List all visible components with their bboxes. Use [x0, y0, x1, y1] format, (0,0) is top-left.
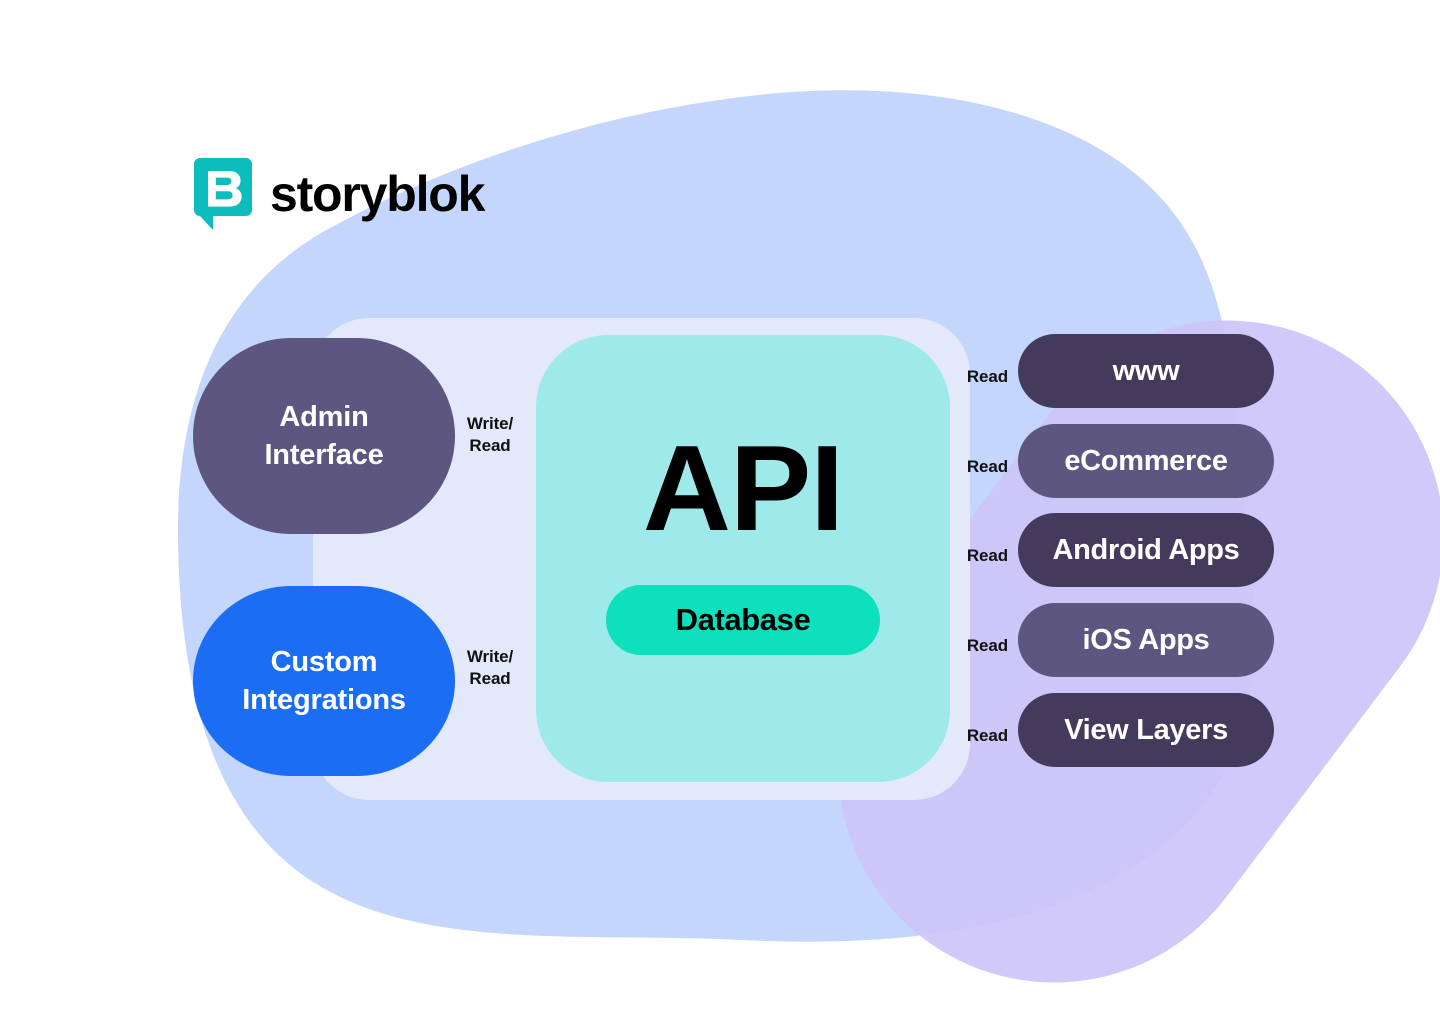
node-ios-apps[interactable]: iOS Apps: [1018, 603, 1274, 677]
node-www[interactable]: www: [1018, 334, 1274, 408]
node-www-label: www: [1113, 355, 1180, 388]
node-view-layers-label: View Layers: [1064, 714, 1228, 747]
storyblok-logo: storyblok: [194, 158, 484, 230]
node-android-apps[interactable]: Android Apps: [1018, 513, 1274, 587]
edge-label-ios-read: Read: [948, 637, 1008, 654]
node-admin-interface-label: AdminInterface: [264, 398, 383, 475]
node-ecommerce[interactable]: eCommerce: [1018, 424, 1274, 498]
node-ecommerce-label: eCommerce: [1064, 445, 1227, 478]
storyblok-wordmark: storyblok: [270, 169, 484, 219]
edge-label-admin-write-read: Write/ Read: [459, 413, 521, 457]
node-api[interactable]: API Database: [536, 335, 950, 782]
edge-label-ecommerce-read: Read: [948, 458, 1008, 475]
node-database-label: Database: [676, 602, 811, 638]
node-android-apps-label: Android Apps: [1052, 534, 1239, 567]
edge-label-android-read: Read: [948, 547, 1008, 564]
diagram-canvas: storyblok AdminInterface Write/ Read Cus…: [0, 0, 1440, 1024]
node-custom-integrations-label: CustomIntegrations: [242, 643, 406, 720]
edge-label-custom-write-read: Write/ Read: [459, 646, 521, 690]
node-custom-integrations[interactable]: CustomIntegrations: [193, 586, 455, 776]
api-title: API: [536, 427, 950, 549]
node-ios-apps-label: iOS Apps: [1082, 624, 1209, 657]
edge-label-view-layers-read: Read: [948, 727, 1008, 744]
node-admin-interface[interactable]: AdminInterface: [193, 338, 455, 534]
edge-label-www-read: Read: [948, 368, 1008, 385]
node-database[interactable]: Database: [606, 585, 880, 655]
node-view-layers[interactable]: View Layers: [1018, 693, 1274, 767]
storyblok-b-speech-bubble-icon: [194, 158, 252, 230]
